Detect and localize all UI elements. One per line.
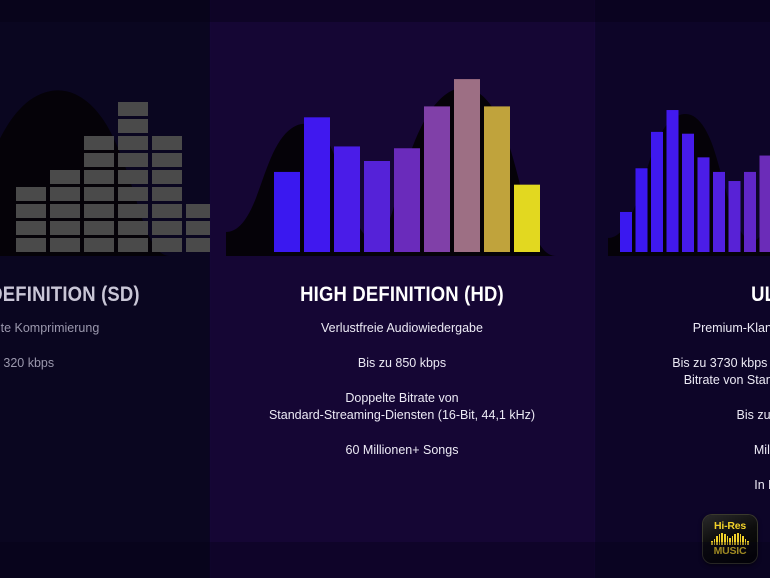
panel-copy-uhd: Premium-Klang, ohne QualitätsverlustBis …	[598, 320, 770, 494]
hi-res-logo-waveform-icon	[711, 533, 749, 545]
panel-title-hd: HIGH DEFINITION (HD)	[235, 283, 569, 307]
equalizer-bar	[760, 156, 770, 252]
equalizer-segment	[16, 187, 46, 201]
equalizer-segment	[16, 221, 46, 235]
equalizer-segment	[84, 187, 114, 201]
equalizer-segment	[118, 119, 148, 133]
equalizer-segment	[118, 187, 148, 201]
equalizer-segment	[186, 238, 210, 252]
equalizer-segment	[84, 136, 114, 150]
copy-line: Doppelte Bitrate vonStandard-Streaming-D…	[212, 390, 592, 424]
equalizer-bar	[636, 168, 648, 252]
equalizer-bar	[729, 181, 741, 252]
equalizer-segment	[50, 221, 80, 235]
equalizer-bar	[713, 172, 725, 252]
copy-line: Verlustbehaftete Komprimierung	[0, 320, 210, 337]
equalizer-segment	[16, 204, 46, 218]
equalizer-segment	[118, 170, 148, 184]
copy-line: 60 Millionen+ Songs	[212, 442, 592, 459]
equalizer-bar	[682, 134, 694, 252]
equalizer-segment	[152, 238, 182, 252]
equalizer-bar	[744, 172, 756, 252]
copy-line: In Hi-Res hören	[598, 477, 770, 494]
equalizer-bar	[698, 157, 710, 252]
equalizer-graphic-hd	[212, 56, 592, 256]
equalizer-bar	[274, 172, 300, 252]
copy-line: Millionen Songs	[598, 442, 770, 459]
equalizer-segment	[152, 153, 182, 167]
equalizer-bar	[667, 110, 679, 252]
hi-res-logo-top-text: Hi-Res	[714, 521, 746, 532]
equalizer-segment	[84, 221, 114, 235]
equalizer-segment	[50, 187, 80, 201]
equalizer-segment	[84, 170, 114, 184]
equalizer-bar	[514, 185, 540, 252]
equalizer-segment	[50, 204, 80, 218]
equalizer-segment	[50, 170, 80, 184]
equalizer-graphic-uhd	[598, 56, 770, 256]
equalizer-bar	[484, 106, 510, 252]
equalizer-bar	[334, 146, 360, 252]
copy-line: Bis zu 3730 kbps - Mehr als das 10-fache…	[598, 355, 770, 389]
equalizer-graphic-sd	[0, 56, 210, 256]
panel-title-sd: STANDARD DEFINITION (SD)	[0, 283, 186, 307]
equalizer-bar	[651, 132, 663, 252]
panel-copy-hd: Verlustfreie AudiowiedergabeBis zu 850 k…	[212, 320, 592, 459]
equalizer-segment	[118, 153, 148, 167]
equalizer-segment	[84, 238, 114, 252]
panel-divider-right	[594, 0, 596, 578]
copy-line: Bis zu 850 kbps	[212, 355, 592, 372]
panel-title-uhd: ULTRA HD	[622, 283, 770, 307]
tier-comparison-stage: STANDARD DEFINITION (SD) HIGH DEFINITION…	[0, 0, 770, 578]
equalizer-bar	[620, 212, 632, 252]
equalizer-segment	[50, 238, 80, 252]
equalizer-segment	[16, 238, 46, 252]
equalizer-segment	[118, 238, 148, 252]
equalizer-segment	[152, 221, 182, 235]
copy-line: Premium-Klang, ohne Qualitätsverlust	[598, 320, 770, 337]
equalizer-segment	[186, 221, 210, 235]
copy-line: Bis zu 320 kbps	[0, 355, 210, 372]
equalizer-bar	[364, 161, 390, 252]
copy-line: Verlustfreie Audiowiedergabe	[212, 320, 592, 337]
equalizer-bar	[304, 117, 330, 252]
equalizer-segment	[118, 221, 148, 235]
copy-line: Bis zu 24-Bit, 192 kHz	[598, 407, 770, 424]
hi-res-logo-bottom-text: MUSIC	[714, 546, 747, 557]
equalizer-segment	[152, 204, 182, 218]
equalizer-segment	[118, 136, 148, 150]
copy-subline: Standard-Streaming-Diensten (16-Bit, 44,…	[212, 407, 592, 424]
equalizer-segment	[152, 136, 182, 150]
equalizer-segment	[186, 204, 210, 218]
equalizer-bar	[424, 106, 450, 252]
equalizer-bar	[454, 79, 480, 252]
equalizer-segment	[84, 204, 114, 218]
equalizer-segment	[118, 102, 148, 116]
equalizer-segment	[152, 187, 182, 201]
panel-copy-sd: Verlustbehaftete KomprimierungBis zu 320…	[0, 320, 210, 372]
equalizer-segment	[118, 204, 148, 218]
copy-subline: Bitrate von Standard-Streaming-Diensten	[598, 372, 770, 389]
equalizer-bar	[394, 148, 420, 252]
hi-res-music-logo[interactable]: Hi-Res MUSIC	[703, 515, 757, 563]
equalizer-segment	[84, 153, 114, 167]
equalizer-segment	[152, 170, 182, 184]
